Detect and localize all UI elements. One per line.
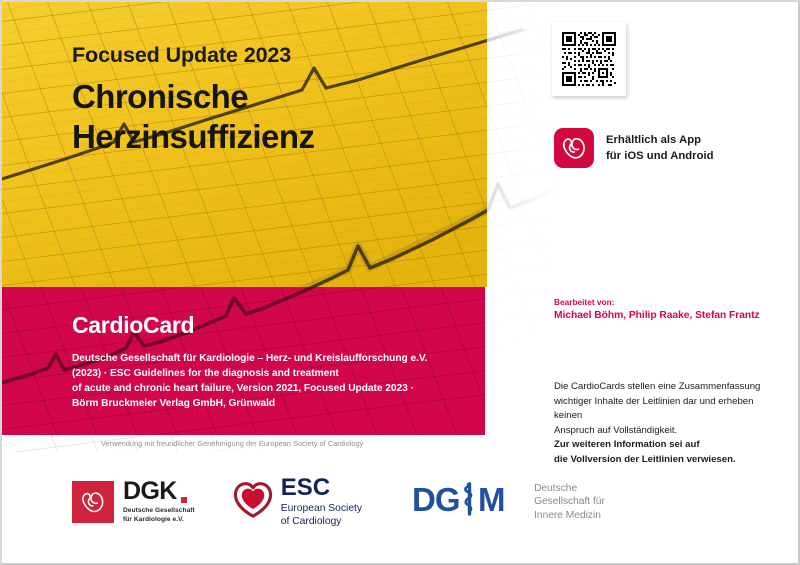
app-availability-badge[interactable]: Erhältlich als App für iOS und Android: [554, 128, 714, 168]
brand-title: CardioCard: [72, 312, 472, 339]
app-badge-text: Erhältlich als App für iOS und Android: [606, 132, 714, 164]
disclaimer-line-5: die Vollversion der Leitlinien verwiesen…: [554, 453, 784, 468]
esc-heart-icon: [233, 481, 273, 524]
dgk-wordmark: DGK Deutsche Gesellschaft für Kardiologi…: [123, 479, 195, 524]
cardiocard-cover: Focused Update 2023 Chronische Herzinsuf…: [0, 0, 800, 565]
dgim-wordmark-icon: DG M: [412, 479, 524, 526]
headline-block: Focused Update 2023 Chronische Herzinsuf…: [72, 44, 472, 157]
meta-line-3: of acute and chronic heart failure, Vers…: [72, 382, 472, 397]
qr-code-card[interactable]: [552, 22, 626, 96]
dgk-dot-icon: [181, 497, 187, 503]
editors-names: Michael Böhm, Philip Raake, Stefan Frant…: [554, 310, 760, 321]
title-line-1: Chronische: [72, 77, 472, 117]
disclaimer-block: Die CardioCards stellen eine Zusammenfas…: [554, 380, 784, 467]
esc-sub-line-2: of Cardiology: [281, 516, 362, 529]
logo-row: DGK Deutsche Gesellschaft für Kardiologi…: [72, 472, 605, 532]
editors-block: Bearbeitet von: Michael Böhm, Philip Raa…: [554, 297, 760, 321]
svg-text:M: M: [478, 481, 505, 518]
dgim-sub-line-3: Innere Medizin: [534, 509, 605, 522]
publication-meta: Deutsche Gesellschaft für Kardiologie – …: [72, 352, 472, 412]
app-text-line-1: Erhältlich als App: [606, 132, 714, 148]
logo-dgim: DG M Deutsche Gesellschaft für Innere Me…: [412, 479, 605, 526]
dgk-sub-line-2: für Kardiologie e.V.: [123, 516, 195, 525]
meta-line-1: Deutsche Gesellschaft für Kardiologie – …: [72, 352, 472, 367]
app-heart-icon: [554, 128, 594, 168]
dgim-sub-line-2: Gesellschaft für: [534, 495, 605, 508]
disclaimer-line-4: Zur weiteren Information sei auf: [554, 438, 784, 453]
app-text-line-2: für iOS und Android: [606, 148, 714, 164]
dgim-subtitle: Deutsche Gesellschaft für Innere Medizin: [534, 482, 605, 521]
disclaimer-line-2: wichtiger Inhalte der Leitlinien dar und…: [554, 395, 784, 424]
dgk-subtitle: Deutsche Gesellschaft für Kardiologie e.…: [123, 507, 195, 524]
meta-line-2: (2023) · ESC Guidelines for the diagnosi…: [72, 367, 472, 382]
esc-word: ESC: [281, 476, 362, 500]
logo-dgk: DGK Deutsche Gesellschaft für Kardiologi…: [72, 479, 195, 524]
editors-label: Bearbeitet von:: [554, 297, 760, 307]
dgim-sub-line-1: Deutsche: [534, 482, 605, 495]
esc-wordmark: ESC European Society of Cardiology: [281, 476, 362, 529]
permission-note: Verwendung mit freundlicher Genehmigung …: [101, 439, 363, 448]
svg-text:DG: DG: [412, 481, 460, 518]
kicker-text: Focused Update 2023: [72, 44, 472, 68]
cardiocard-block: CardioCard Deutsche Gesellschaft für Kar…: [72, 312, 472, 412]
logo-esc: ESC European Society of Cardiology: [233, 476, 362, 529]
dgk-word-text: DGK: [123, 479, 177, 504]
qr-code-icon: [560, 30, 618, 88]
meta-line-4: Börm Bruckmeier Verlag GmbH, Grünwald: [72, 397, 472, 412]
dgk-word: DGK: [123, 479, 195, 504]
dgk-sub-line-1: Deutsche Gesellschaft: [123, 507, 195, 516]
esc-sub-line-1: European Society: [281, 503, 362, 516]
disclaimer-line-1: Die CardioCards stellen eine Zusammenfas…: [554, 380, 784, 395]
esc-subtitle: European Society of Cardiology: [281, 503, 362, 529]
dgk-heart-icon: [72, 481, 114, 523]
disclaimer-line-3: Anspruch auf Vollständigkeit.: [554, 424, 784, 439]
title-line-2: Herzinsuffizienz: [72, 117, 472, 157]
